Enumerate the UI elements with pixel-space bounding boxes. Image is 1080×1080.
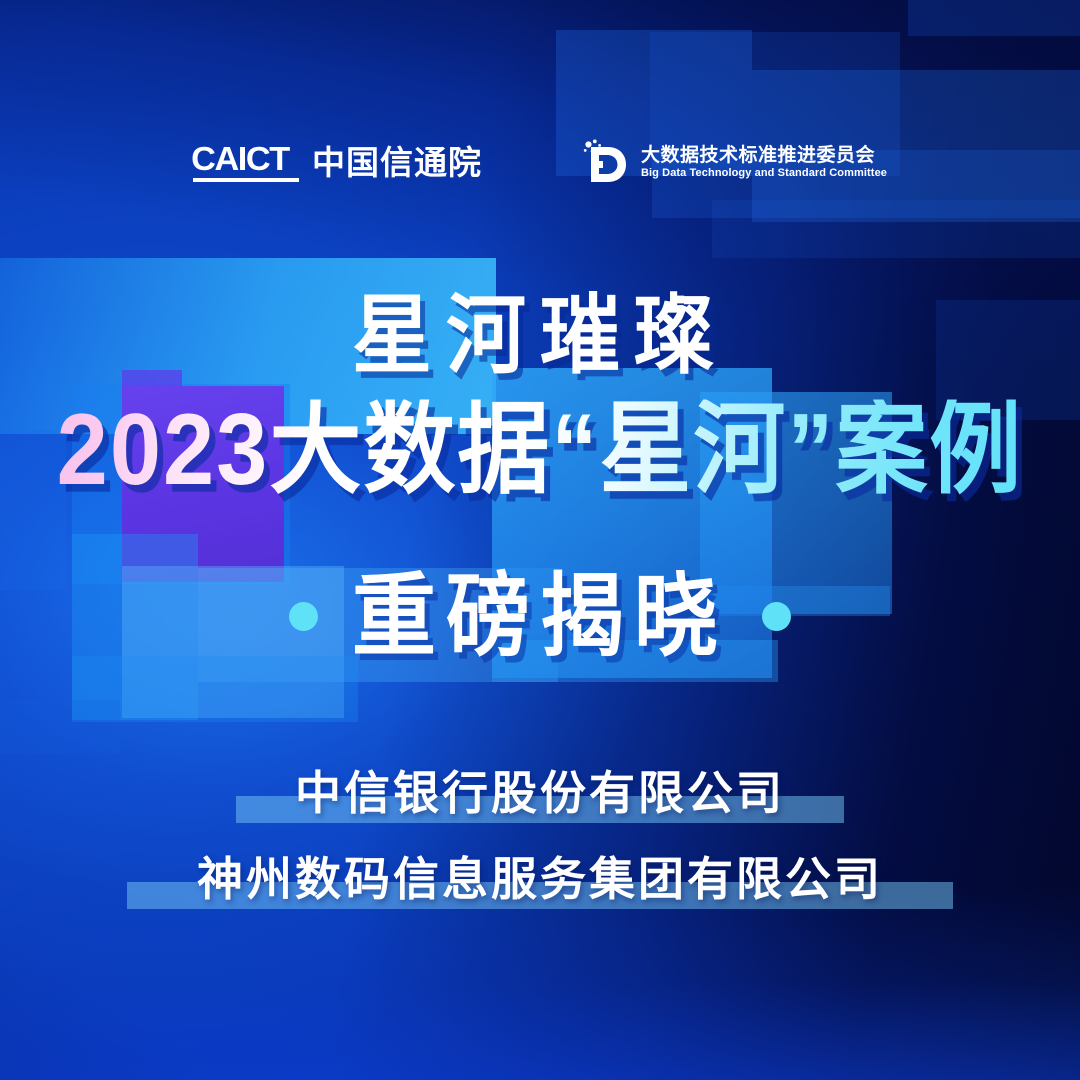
logo-bar: CAICT 中国信通院 大数据技术标准推进委员会 Big [0,138,1080,186]
big-data-committee-text: 大数据技术标准推进委员会 Big Data Technology and Sta… [641,146,887,179]
company-name-text: 中信银行股份有限公司 [295,767,785,819]
title-line-1: 星河璀璨 [0,293,1080,379]
company-name-item: 神州数码信息服务集团有限公司 [0,856,1080,942]
decorative-rect-bottom-left-sliver [0,700,120,754]
title-line-3: 重磅揭晓 [352,571,728,662]
big-data-committee-logo: 大数据技术标准推进委员会 Big Data Technology and Sta… [582,138,887,186]
caict-logo: CAICT 中国信通院 [193,142,482,182]
caict-chinese-name: 中国信通院 [312,146,482,179]
caict-mark-wrap: CAICT [193,142,299,182]
company-name-item: 中信银行股份有限公司 [0,770,1080,856]
title-line-2: 2023大数据“星河”案例 [0,399,1080,500]
big-data-committee-english-name: Big Data Technology and Standard Committ… [641,168,887,179]
poster-canvas: CAICT 中国信通院 大数据技术标准推进委员会 Big [0,0,1080,1080]
caict-underline-rule [193,178,299,182]
decorative-rect-top-right-5 [712,200,1080,258]
d-letter-logo-icon [582,138,628,186]
company-list: 中信银行股份有限公司 神州数码信息服务集团有限公司 [0,770,1080,942]
company-name-text: 神州数码信息服务集团有限公司 [197,853,883,905]
title-line-3-row: 重磅揭晓 [0,574,1080,658]
big-data-committee-chinese-name: 大数据技术标准推进委员会 [641,146,887,165]
caict-wordmark: CAICT [191,142,289,175]
bullet-dot-left-icon [289,602,318,631]
decorative-rect-top-right-strip [908,0,1080,36]
bullet-dot-right-icon [762,602,791,631]
